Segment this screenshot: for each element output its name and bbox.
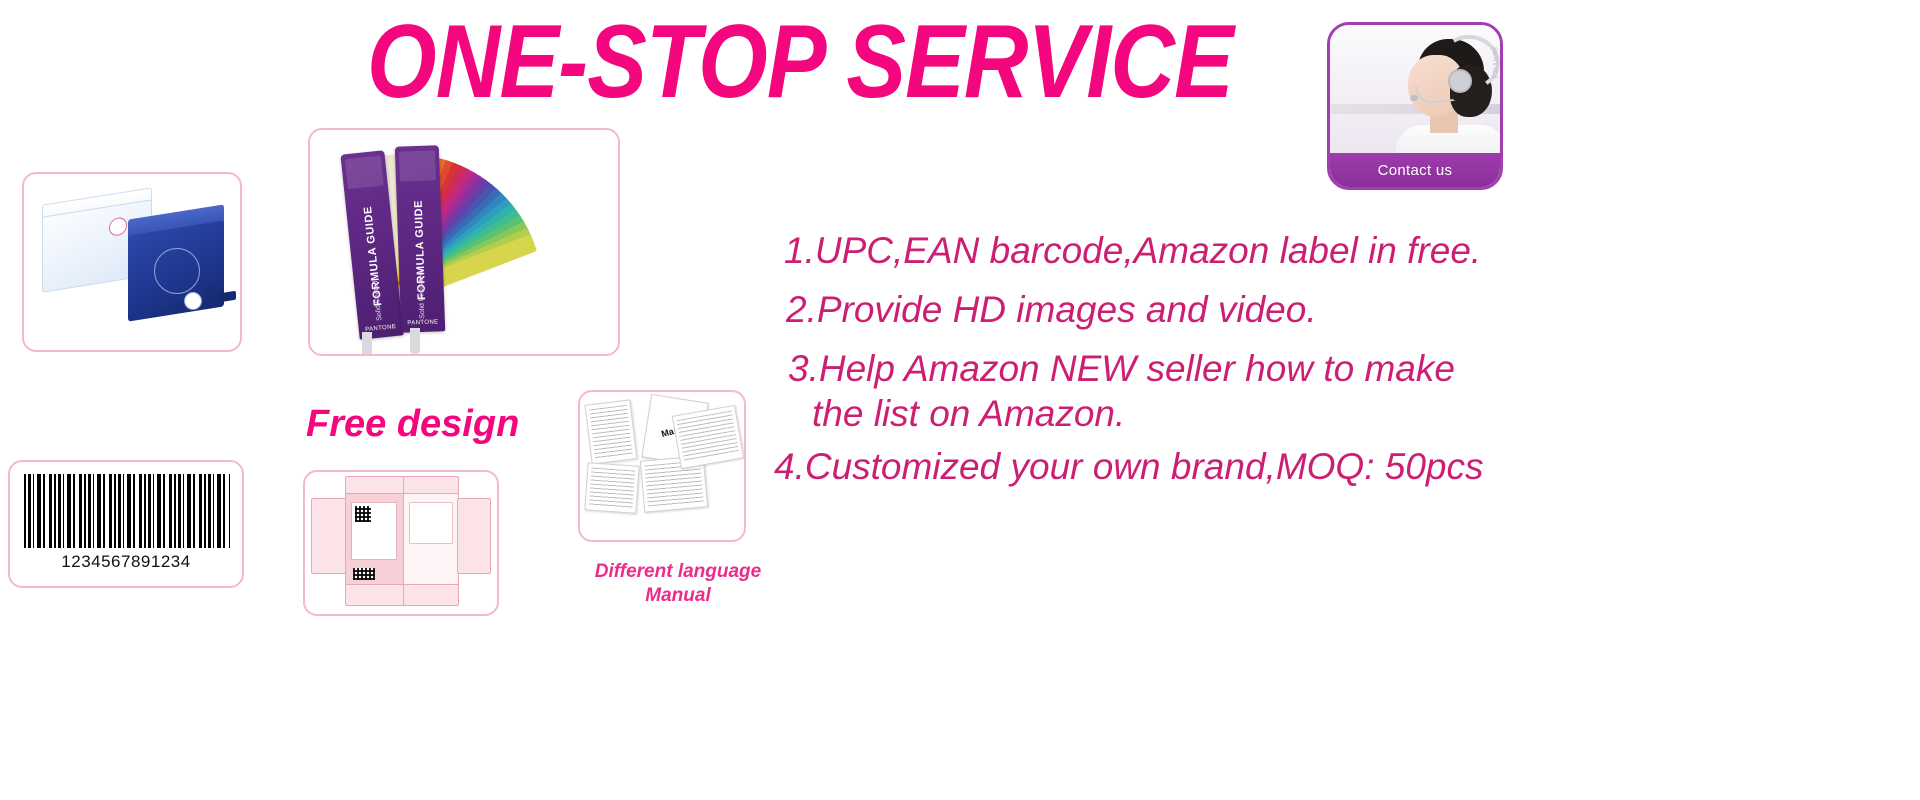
- pantone-guide-uncoated: FORMULA GUIDE Solid Uncoated PANTONE: [395, 145, 445, 332]
- manual-text-lines: [677, 410, 740, 463]
- manual-sheet: [584, 462, 639, 514]
- customer-service-photo: SERVICE: [1330, 25, 1500, 153]
- contact-us-label: Contact us: [1378, 162, 1453, 179]
- fan-stick: [410, 328, 420, 354]
- barcode-number: 1234567891234: [10, 552, 242, 572]
- feature-item: the list on Amazon.: [812, 395, 1916, 432]
- guide-header-block: [399, 150, 436, 181]
- product-box-photo: [22, 172, 242, 352]
- dieline-top-flap: [345, 476, 405, 494]
- guide-brand: PANTONE: [407, 319, 438, 326]
- barcode-bars-icon: [24, 474, 230, 548]
- free-design-caption: Free design: [306, 403, 519, 446]
- manual-photo: Manual: [578, 390, 746, 542]
- manual-caption-line2: Manual: [570, 584, 786, 608]
- box-badge-icon: [184, 292, 202, 310]
- manual-caption: Different language Manual: [570, 560, 786, 608]
- manual-sheet: [672, 405, 744, 469]
- manual-text-lines: [589, 468, 636, 509]
- manual-caption-line1: Different language: [570, 560, 786, 584]
- guide-header-block: [345, 156, 384, 190]
- feature-item: 3.Help Amazon NEW seller how to make: [788, 350, 1916, 387]
- page-title: ONE-STOP SERVICE: [112, 8, 1488, 117]
- box-tab: [220, 291, 236, 303]
- barcode-icon: [353, 568, 375, 580]
- manual-text-lines: [644, 461, 703, 508]
- pantone-fan-photo: FORMULA GUIDE Solid Coated PANTONE FORMU…: [308, 128, 620, 356]
- manual-text-lines: [589, 405, 633, 459]
- promo-banner: ONE-STOP SERVICE 1234567891234 FORMULA G…: [0, 0, 1920, 800]
- dieline-template-photo: [303, 470, 499, 616]
- feature-item: 2.Provide HD images and video.: [786, 291, 1916, 328]
- feature-list: 1.UPC,EAN barcode,Amazon label in free. …: [766, 232, 1916, 485]
- box-emblem-icon: [154, 248, 200, 294]
- contact-us-bar[interactable]: Contact us: [1330, 153, 1500, 187]
- contact-us-badge[interactable]: SERVICE Contact us: [1327, 22, 1503, 190]
- barcode-photo: 1234567891234: [8, 460, 244, 588]
- feature-item: 1.UPC,EAN barcode,Amazon label in free.: [784, 232, 1916, 269]
- dieline-artwork-area: [409, 502, 453, 544]
- dieline-top-flap: [403, 476, 459, 494]
- badge-side-text: SERVICE: [1491, 47, 1497, 80]
- dieline-flap-right: [457, 498, 491, 574]
- feature-item: 4.Customized your own brand,MOQ: 50pcs: [774, 448, 1916, 485]
- dieline-flap-left: [311, 498, 347, 574]
- manual-sheet: [585, 399, 638, 464]
- headset-mic-tip-icon: [1410, 95, 1418, 101]
- fan-stick: [362, 332, 372, 356]
- dieline-bottom-flap: [345, 584, 405, 606]
- dieline-bottom-flap: [403, 584, 459, 606]
- box-seal-icon: [109, 216, 127, 237]
- qr-code-icon: [355, 506, 371, 522]
